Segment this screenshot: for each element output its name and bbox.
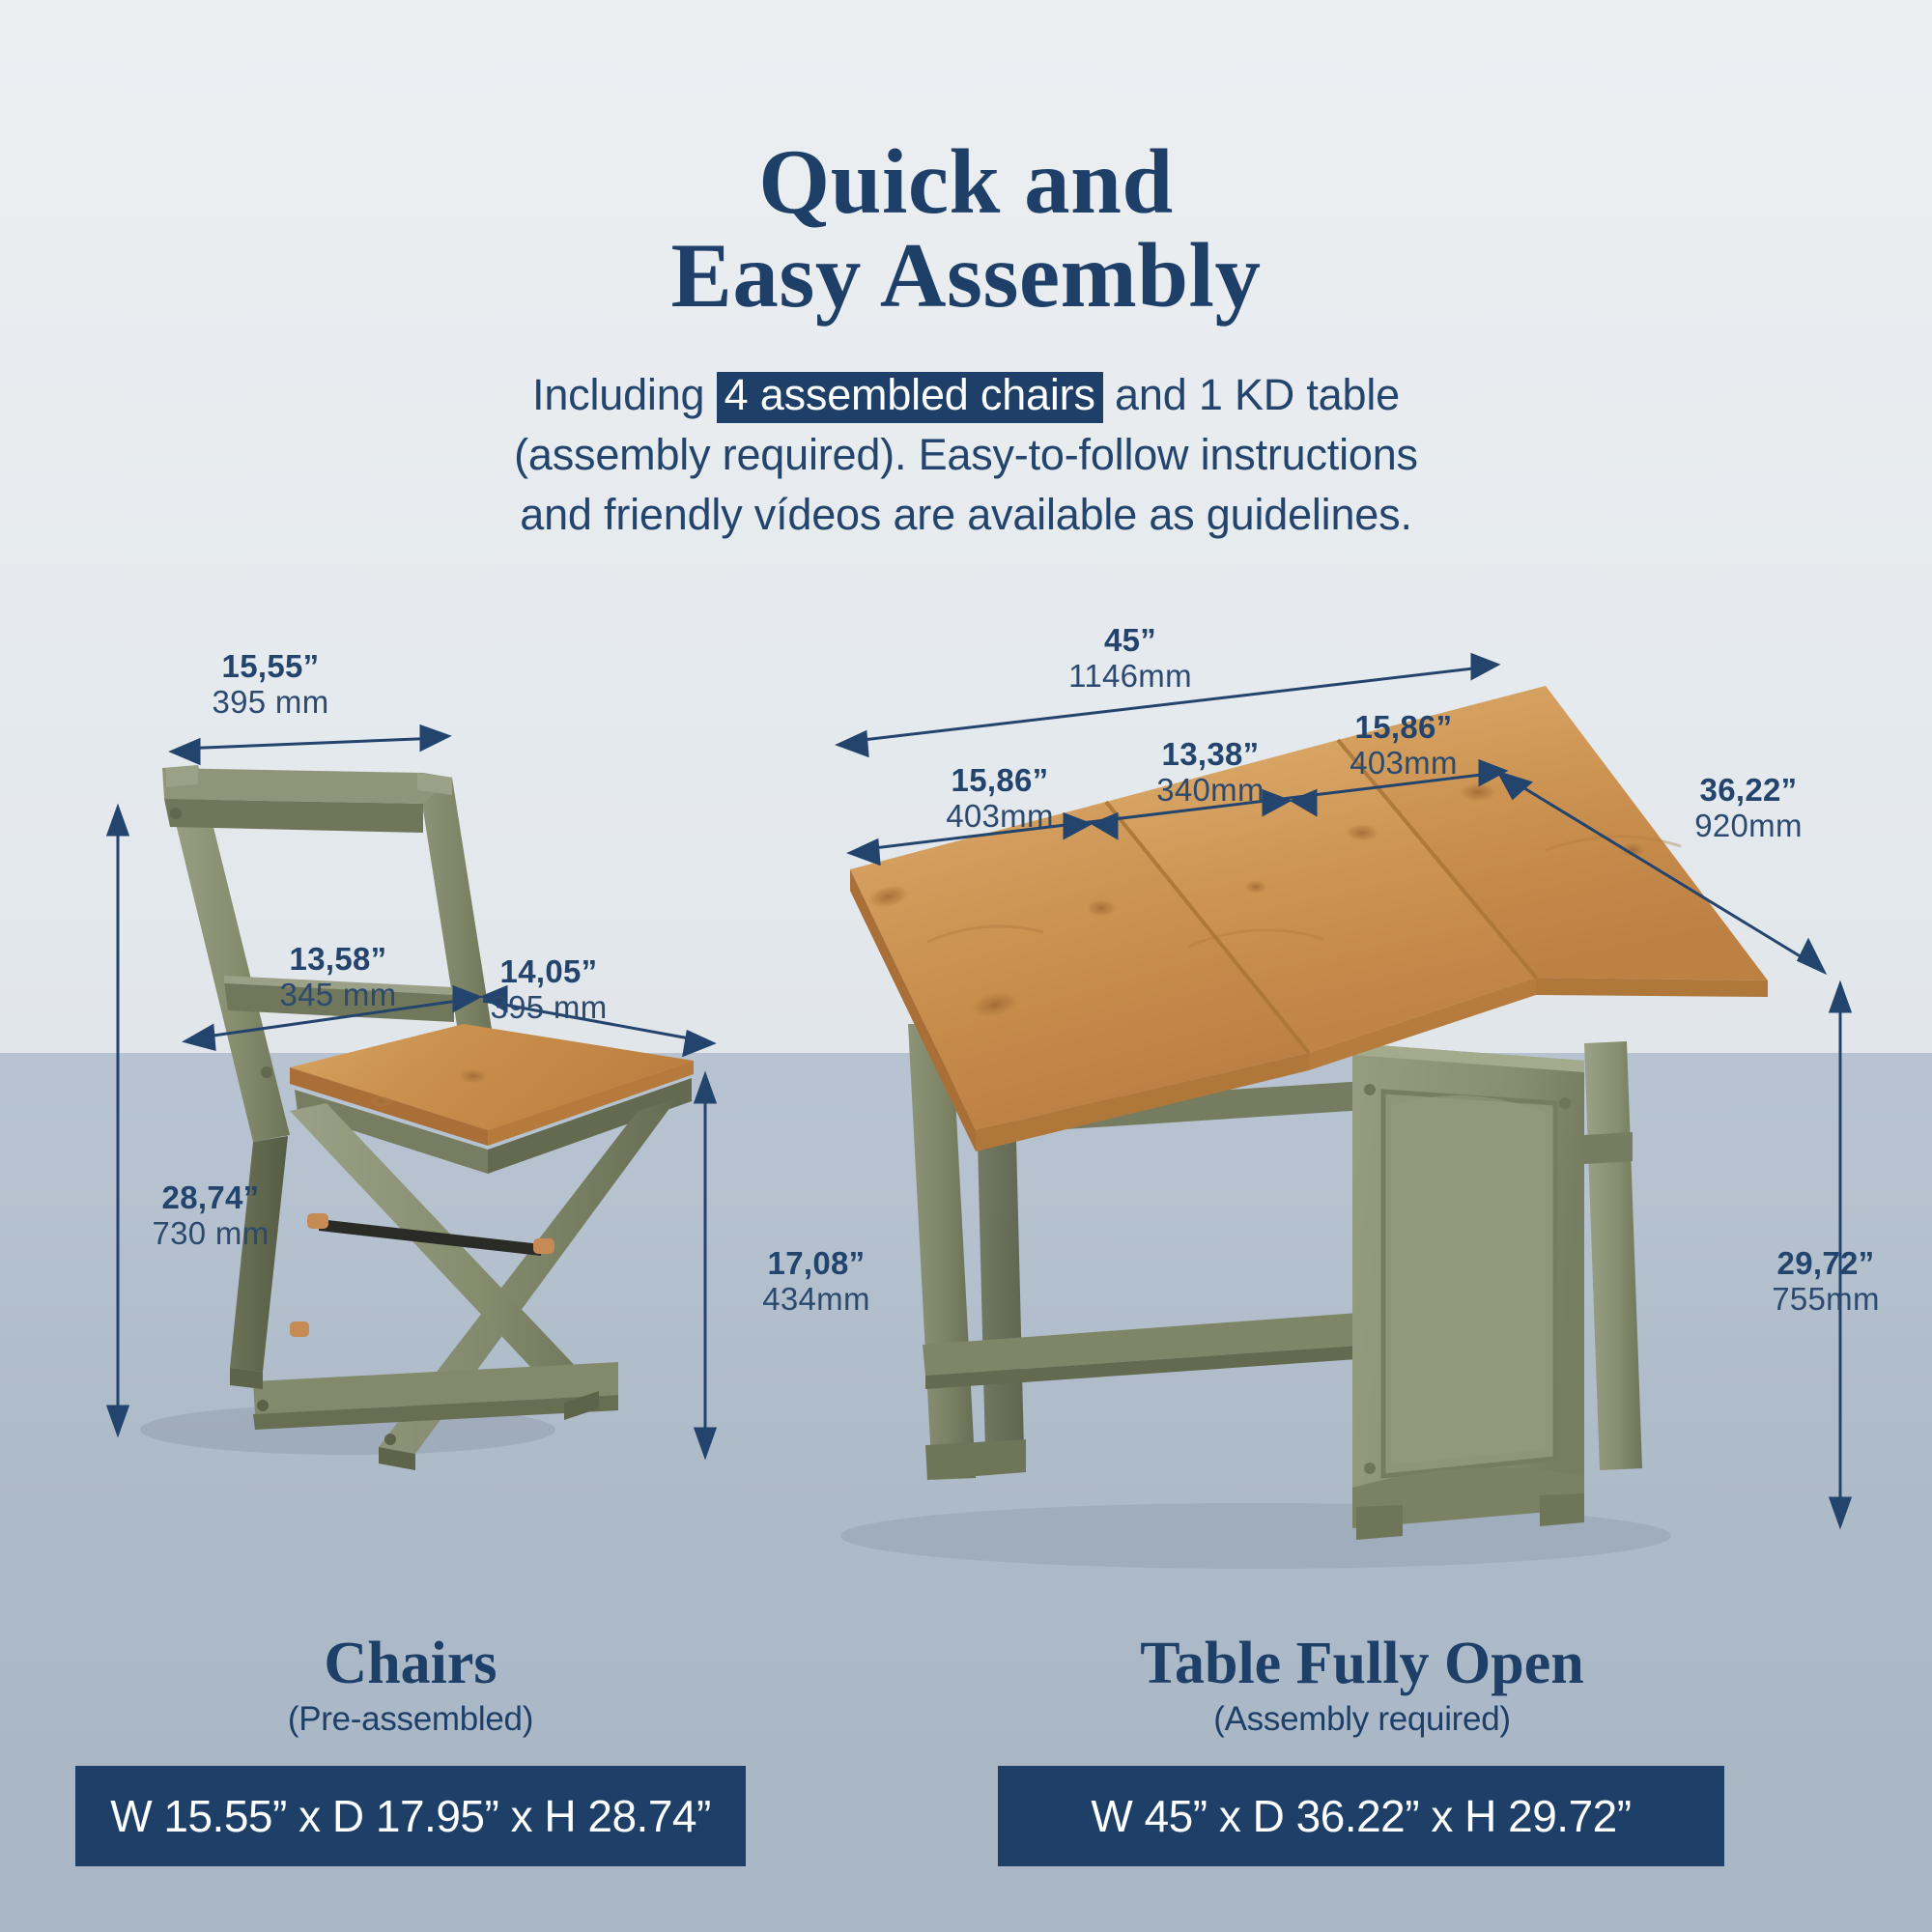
dim-table-total-width: 45” 1146mm <box>1024 623 1236 695</box>
dim-table-total-width-in: 45” <box>1024 623 1236 659</box>
dim-chair-width-mm: 395 mm <box>155 685 386 721</box>
subtitle-part1: Including <box>532 370 717 419</box>
subtitle-part2: and 1 KD table <box>1103 370 1400 419</box>
page-subtitle: Including 4 assembled chairs and 1 KD ta… <box>420 365 1512 545</box>
dim-table-center-mm: 340mm <box>1109 773 1312 809</box>
dim-chair-seat-depth-mm: 345 mm <box>232 978 444 1013</box>
dim-chair-seat-width-in: 14,05” <box>452 954 645 990</box>
table-caption-title: Table Fully Open <box>995 1633 1729 1694</box>
dim-table-height: 29,72” 755mm <box>1729 1246 1922 1318</box>
table-caption: Table Fully Open (Assembly required) <box>995 1633 1729 1739</box>
dim-chair-height: 28,74” 730 mm <box>114 1180 307 1252</box>
chair-spec-text: W 15.55” x D 17.95” x H 28.74” <box>110 1790 711 1842</box>
dim-chair-height-in: 28,74” <box>114 1180 307 1216</box>
chair-spec-bar: W 15.55” x D 17.95” x H 28.74” <box>75 1766 746 1866</box>
dim-chair-seat-width-mm: 395 mm <box>452 990 645 1026</box>
subtitle-line2: (assembly required). Easy-to-follow inst… <box>514 430 1418 479</box>
dim-table-leaf-right: 15,86” 403mm <box>1302 710 1505 781</box>
dim-chair-seat-height: 17,08” 434mm <box>724 1246 908 1318</box>
dim-table-leaf-right-mm: 403mm <box>1302 746 1505 781</box>
subtitle-highlight: 4 assembled chairs <box>717 372 1103 423</box>
dim-chair-seat-depth: 13,58” 345 mm <box>232 942 444 1013</box>
table-spec-bar: W 45” x D 36.22” x H 29.72” <box>998 1766 1724 1866</box>
dim-table-center-in: 13,38” <box>1109 737 1312 773</box>
dim-table-height-mm: 755mm <box>1729 1282 1922 1318</box>
page-title-line1: Quick and <box>0 135 1932 229</box>
table-spec-text: W 45” x D 36.22” x H 29.72” <box>1091 1790 1631 1842</box>
dim-table-height-in: 29,72” <box>1729 1246 1922 1282</box>
dim-chair-width-in: 15,55” <box>155 649 386 685</box>
dim-chair-seat-width: 14,05” 395 mm <box>452 954 645 1026</box>
dim-table-center: 13,38” 340mm <box>1109 737 1312 809</box>
dim-chair-width: 15,55” 395 mm <box>155 649 386 721</box>
dim-chair-seat-depth-in: 13,58” <box>232 942 444 978</box>
table-caption-sub: (Assembly required) <box>995 1700 1729 1739</box>
chair-caption: Chairs (Pre-assembled) <box>72 1633 749 1739</box>
dim-chair-height-mm: 730 mm <box>114 1216 307 1252</box>
dim-chair-seat-height-in: 17,08” <box>724 1246 908 1282</box>
subtitle-line3: and friendly vídeos are available as gui… <box>520 490 1412 539</box>
dim-table-depth: 36,22” 920mm <box>1642 773 1855 844</box>
dim-table-depth-mm: 920mm <box>1642 809 1855 844</box>
chair-caption-title: Chairs <box>72 1633 749 1694</box>
dim-table-leaf-right-in: 15,86” <box>1302 710 1505 746</box>
dim-table-leaf-left-mm: 403mm <box>898 799 1101 835</box>
page-title-line2: Easy Assembly <box>0 229 1932 323</box>
chair-caption-sub: (Pre-assembled) <box>72 1700 749 1739</box>
page-title: Quick and Easy Assembly <box>0 135 1932 323</box>
dim-table-total-width-mm: 1146mm <box>1024 659 1236 695</box>
infographic-page: Quick and Easy Assembly Including 4 asse… <box>0 0 1932 1932</box>
dim-table-leaf-left-in: 15,86” <box>898 763 1101 799</box>
dim-table-leaf-left: 15,86” 403mm <box>898 763 1101 835</box>
dim-table-depth-in: 36,22” <box>1642 773 1855 809</box>
dim-chair-seat-height-mm: 434mm <box>724 1282 908 1318</box>
